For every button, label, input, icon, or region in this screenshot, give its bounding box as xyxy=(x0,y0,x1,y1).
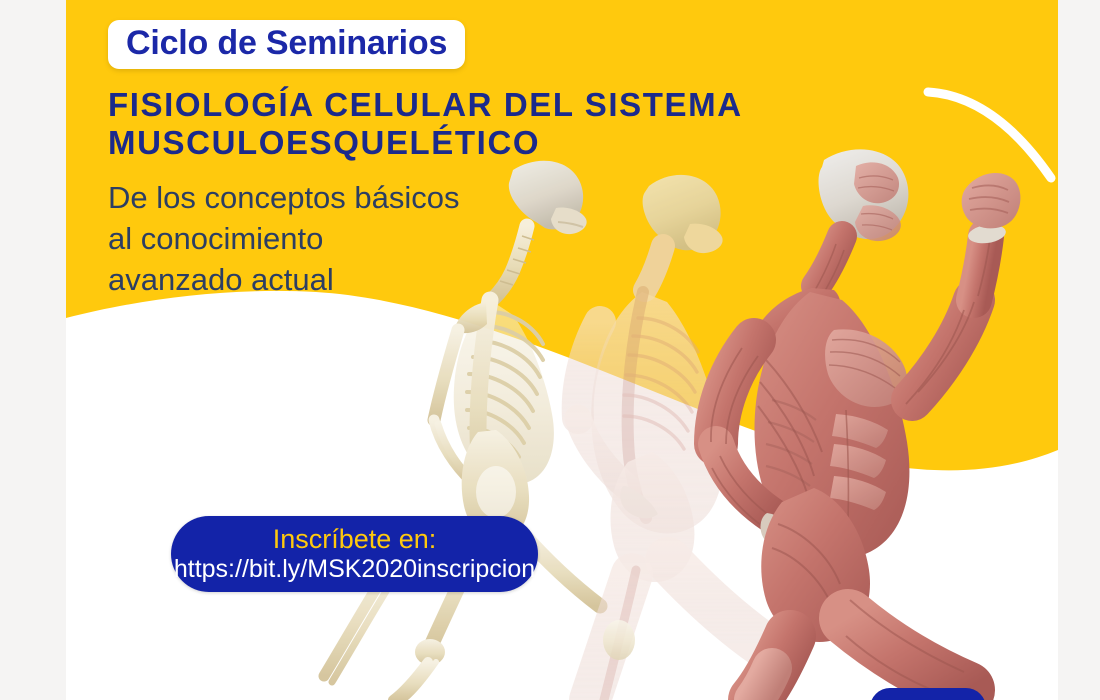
page-title-line-2: MUSCULOESQUELÉTICO xyxy=(108,124,848,162)
registration-url: https://bit.ly/MSK2020inscripcion xyxy=(174,555,535,585)
poster-root: Ciclo de Seminarios FISIOLOGÍA CELULAR D… xyxy=(0,0,1100,700)
page-subtitle-line-1: De los conceptos básicos xyxy=(108,177,848,218)
registration-button[interactable]: Inscríbete en: https://bit.ly/MSK2020ins… xyxy=(171,516,538,592)
series-badge: Ciclo de Seminarios xyxy=(108,20,465,69)
poster-canvas: Ciclo de Seminarios FISIOLOGÍA CELULAR D… xyxy=(66,0,1058,700)
page-subtitle-line-3: avanzado actual xyxy=(108,259,848,300)
bottom-cropped-button[interactable] xyxy=(870,688,986,700)
registration-prompt: Inscríbete en: xyxy=(273,524,437,554)
page-title-line-1: FISIOLOGÍA CELULAR DEL SISTEMA xyxy=(108,86,743,123)
poster-copy: Ciclo de Seminarios FISIOLOGÍA CELULAR D… xyxy=(108,20,848,300)
page-title: FISIOLOGÍA CELULAR DEL SISTEMA MUSCULOES… xyxy=(108,86,848,163)
page-subtitle-line-2: al conocimiento xyxy=(108,218,848,259)
page-subtitle: De los conceptos básicos al conocimiento… xyxy=(108,177,848,301)
series-badge-label: Ciclo de Seminarios xyxy=(126,24,447,62)
